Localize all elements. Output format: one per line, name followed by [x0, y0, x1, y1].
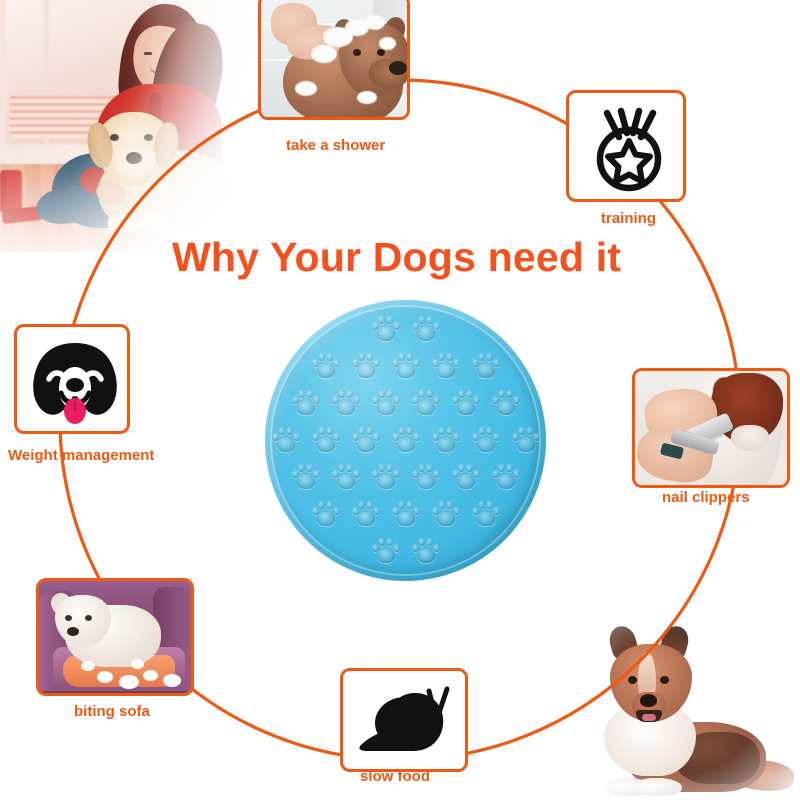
paw-print — [331, 464, 361, 492]
paw-print — [471, 353, 501, 381]
medal-star-icon — [569, 93, 686, 202]
lick-mat-product — [265, 300, 546, 581]
paw-print — [451, 464, 481, 492]
paw-print — [311, 501, 341, 529]
feature-label-slow-food: slow food — [360, 768, 430, 785]
paw-print — [351, 353, 381, 381]
paw-print — [311, 353, 341, 381]
paw-print — [431, 427, 461, 455]
paw-print — [411, 316, 441, 344]
paw-print — [491, 390, 521, 418]
paw-print — [471, 501, 501, 529]
infographic-canvas: Why Your Dogs need it take a shower — [0, 0, 800, 800]
paw-print — [451, 390, 481, 418]
paw-print — [411, 464, 441, 492]
snail-icon — [343, 671, 468, 772]
feature-label-take-a-shower: take a shower — [286, 137, 385, 154]
paw-print — [291, 464, 321, 492]
paw-print — [511, 427, 541, 455]
paw-print — [391, 427, 421, 455]
paw-print — [431, 501, 461, 529]
paw-print — [371, 316, 401, 344]
feature-box-take-a-shower[interactable] — [258, 0, 410, 120]
paw-print — [411, 538, 441, 566]
paw-print — [351, 427, 381, 455]
paw-print — [331, 390, 361, 418]
feature-box-weight-management[interactable] — [14, 324, 130, 434]
paw-print — [491, 464, 521, 492]
feature-box-training[interactable] — [566, 90, 686, 202]
paw-print — [371, 538, 401, 566]
paw-print — [411, 390, 441, 418]
feature-box-nail-clippers[interactable] — [632, 368, 790, 488]
paw-print — [351, 501, 381, 529]
feature-box-slow-food[interactable] — [340, 668, 468, 772]
paw-print — [431, 353, 461, 381]
paw-print — [371, 464, 401, 492]
paw-print — [271, 427, 301, 455]
dog-face-icon — [17, 327, 130, 434]
paw-print — [391, 353, 421, 381]
paw-print — [311, 427, 341, 455]
page-title: Why Your Dogs need it — [172, 234, 621, 281]
paw-print — [371, 390, 401, 418]
feature-label-biting-sofa: biting sofa — [74, 703, 150, 720]
paw-print — [391, 501, 421, 529]
paw-print — [291, 390, 321, 418]
feature-label-nail-clippers: nail clippers — [662, 489, 750, 506]
feature-box-biting-sofa[interactable] — [36, 578, 194, 696]
feature-label-weight-management: Weight management — [8, 447, 154, 464]
feature-label-training: training — [601, 210, 656, 227]
paw-print — [471, 427, 501, 455]
